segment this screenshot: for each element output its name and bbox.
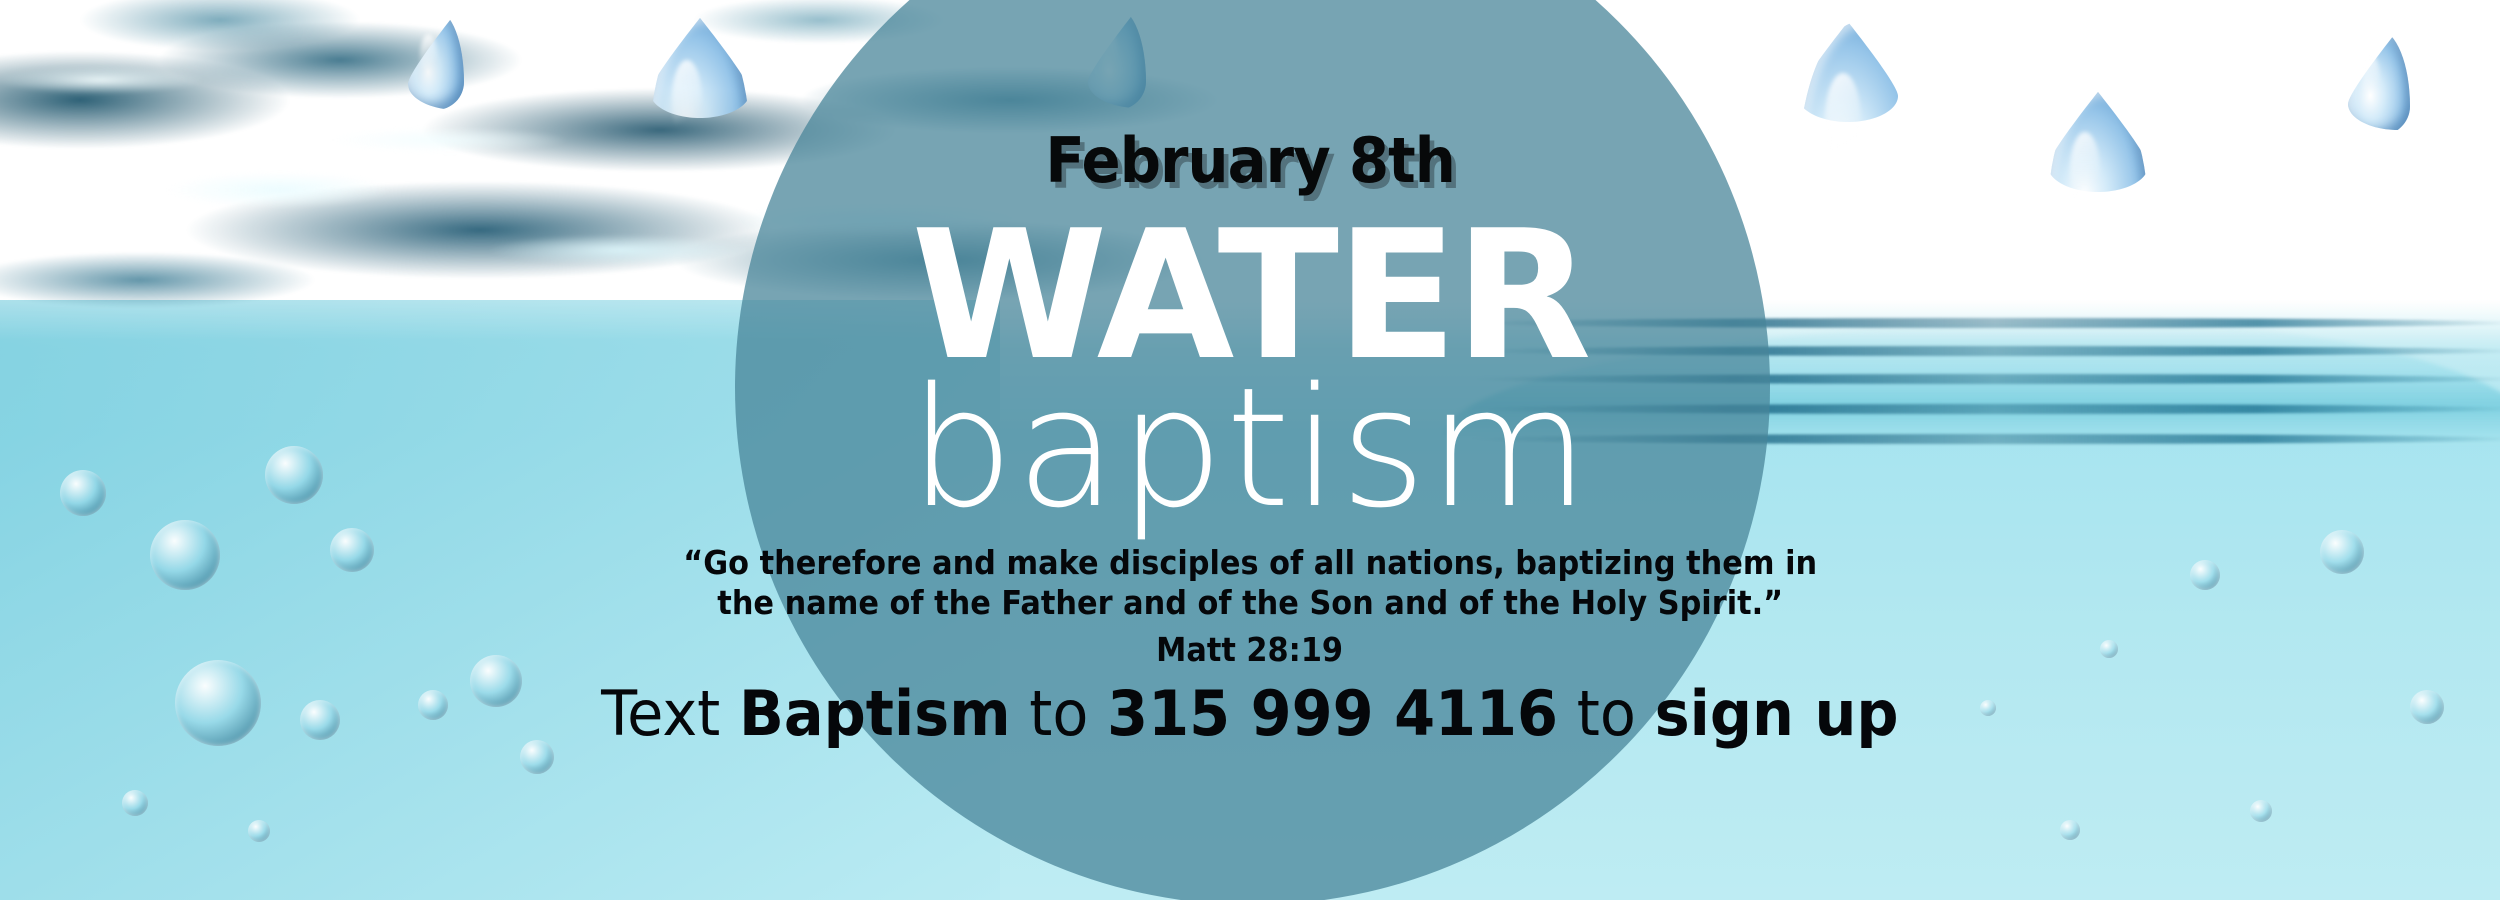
event-date: February 8th [1045,130,1455,192]
cta-connector-2: to [1558,677,1655,750]
cta-text-word: Text [601,677,739,750]
headline-baptism: baptism [909,370,1591,527]
scripture-quote-line-2: the name of the Father and of the Son an… [683,583,1817,623]
cta-keyword: Baptism [739,677,1011,750]
scripture-quote: “Go therefore and make disciples of all … [683,543,1817,624]
water-baptism-banner: February 8th WATER baptism “Go therefore… [0,0,2500,900]
banner-text-content: February 8th WATER baptism “Go therefore… [0,0,2500,900]
scripture-quote-line-1: “Go therefore and make disciples of all … [683,543,1817,583]
scripture-reference: Matt 28:19 [1157,630,1344,669]
signup-call-to-action: Text Baptism to 315 999 4116 to sign up [601,683,1898,745]
cta-action: sign up [1655,677,1899,750]
cta-connector-1: to [1011,677,1108,750]
cta-phone-number[interactable]: 315 999 4116 [1107,677,1558,750]
